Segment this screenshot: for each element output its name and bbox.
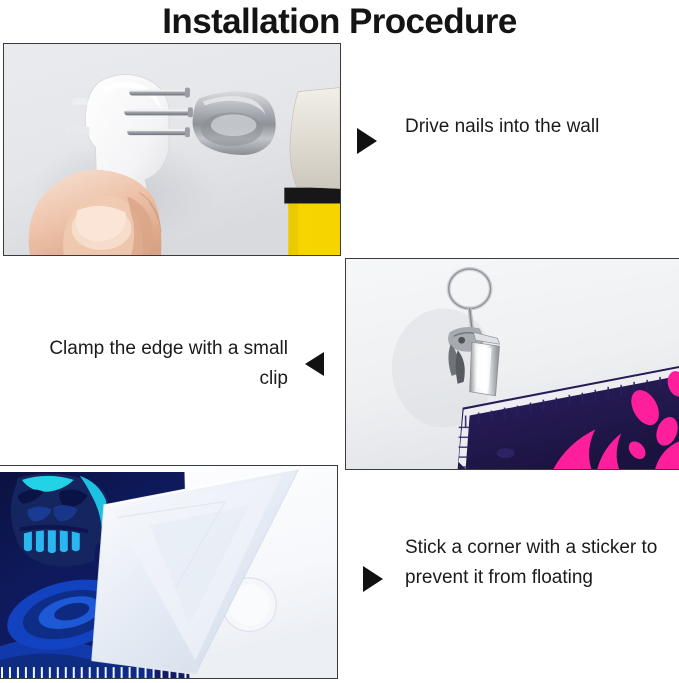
sticker-behind-tapestry-photo [0, 465, 338, 679]
nails-and-hammer-photo [3, 43, 341, 256]
nails-and-hammer-illustration [4, 44, 340, 255]
hammer-handle [284, 188, 340, 255]
step-2-arrow-left-icon [305, 352, 324, 376]
step-1-arrow-right-icon [357, 128, 377, 154]
sticker-behind-tapestry-illustration [0, 466, 337, 678]
clip-on-tapestry-illustration [346, 259, 679, 469]
step-2-caption: Clamp the edge with a small clip [28, 334, 288, 394]
page-title: Installation Procedure [0, 2, 679, 42]
step-3-arrow-right-icon [363, 566, 383, 592]
clip-on-tapestry-photo [345, 258, 679, 470]
step-1-caption: Drive nails into the wall [405, 112, 665, 142]
nails [124, 88, 193, 138]
step-3-caption: Stick a corner with a sticker to prevent… [405, 533, 660, 593]
